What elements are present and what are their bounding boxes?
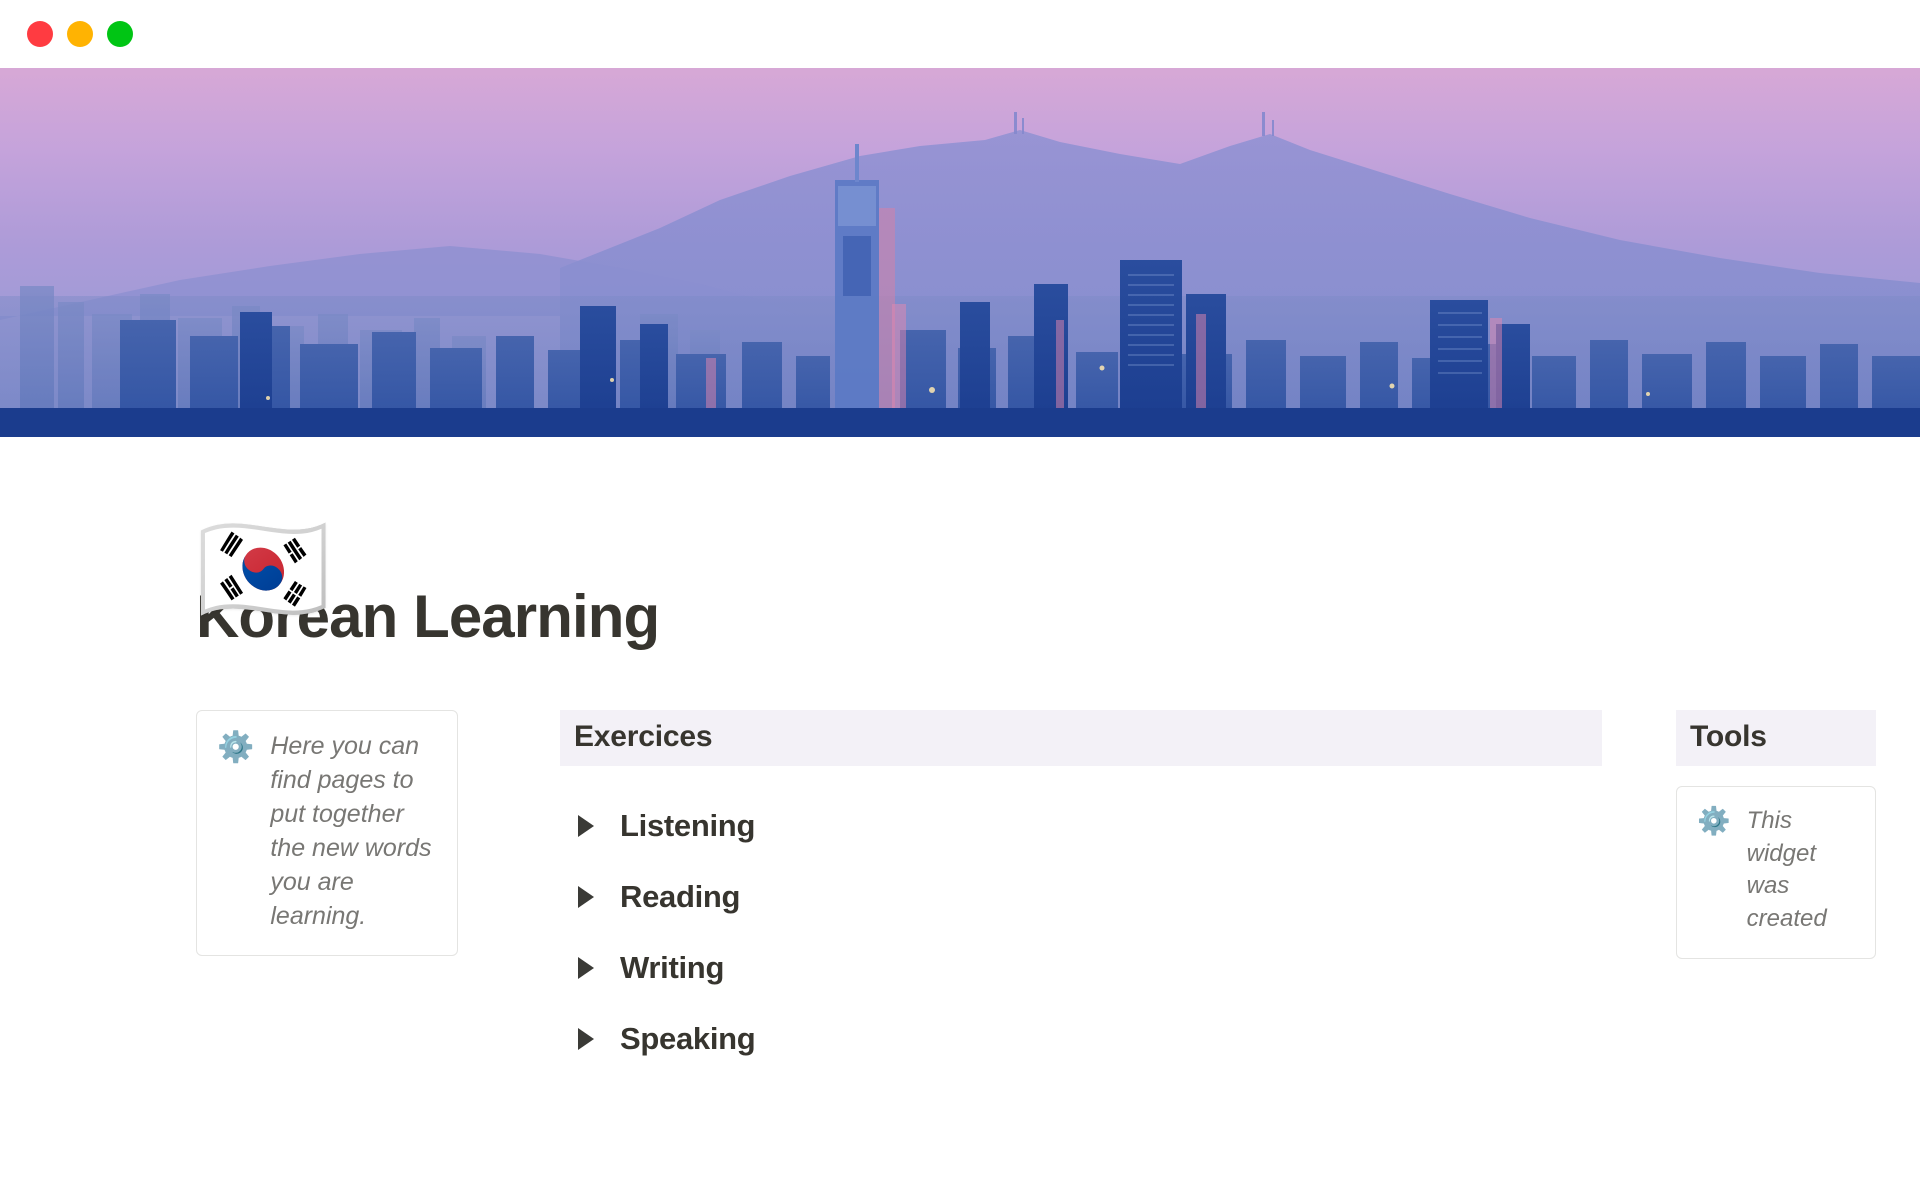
window-zoom-button[interactable] [107, 21, 133, 47]
info-callout-tools[interactable]: ⚙️ This widget was created [1676, 786, 1876, 959]
info-callout-left-text: Here you can find pages to put together … [270, 729, 437, 933]
chevron-right-icon[interactable] [578, 886, 594, 908]
toggle-item-speaking[interactable]: Speaking [560, 1015, 1602, 1063]
right-column: Tools ⚙️ This widget was created [1676, 710, 1876, 959]
toggle-item-reading[interactable]: Reading [560, 873, 1602, 921]
seoul-skyline-image [0, 68, 1920, 437]
info-callout-left[interactable]: ⚙️ Here you can find pages to put togeth… [196, 710, 458, 956]
tools-callout-wrapper: ⚙️ This widget was created [1676, 786, 1876, 959]
toggle-label-reading: Reading [620, 879, 740, 915]
chevron-right-icon[interactable] [578, 1028, 594, 1050]
toggle-label-speaking: Speaking [620, 1021, 755, 1057]
column-layout: ⚙️ Here you can find pages to put togeth… [196, 710, 1876, 1086]
gear-emoji-icon: ⚙️ [217, 729, 254, 767]
toggle-label-listening: Listening [620, 808, 755, 844]
page-content: 🇰🇷 Korean Learning ⚙️ Here you can find … [0, 585, 1920, 1086]
tools-section-header[interactable]: Tools [1676, 710, 1876, 766]
left-column: ⚙️ Here you can find pages to put togeth… [196, 710, 458, 956]
exercices-section-header[interactable]: Exercices [560, 710, 1602, 766]
chevron-right-icon[interactable] [578, 815, 594, 837]
page-cover-banner[interactable] [0, 68, 1920, 437]
info-callout-tools-text: This widget was created [1747, 805, 1855, 936]
exercices-toggle-list: Listening Reading Writing Speaking [560, 802, 1602, 1063]
window-close-button[interactable] [27, 21, 53, 47]
window-titlebar [0, 0, 1920, 68]
window-minimize-button[interactable] [67, 21, 93, 47]
middle-column: Exercices Listening Reading Writing Spea… [560, 710, 1602, 1086]
chevron-right-icon[interactable] [578, 957, 594, 979]
gear-emoji-icon: ⚙️ [1697, 805, 1731, 839]
page-title[interactable]: Korean Learning [196, 585, 1920, 648]
toggle-label-writing: Writing [620, 950, 724, 986]
toggle-item-writing[interactable]: Writing [560, 944, 1602, 992]
toggle-item-listening[interactable]: Listening [560, 802, 1602, 850]
south-korea-flag-emoji[interactable]: 🇰🇷 [196, 515, 330, 623]
